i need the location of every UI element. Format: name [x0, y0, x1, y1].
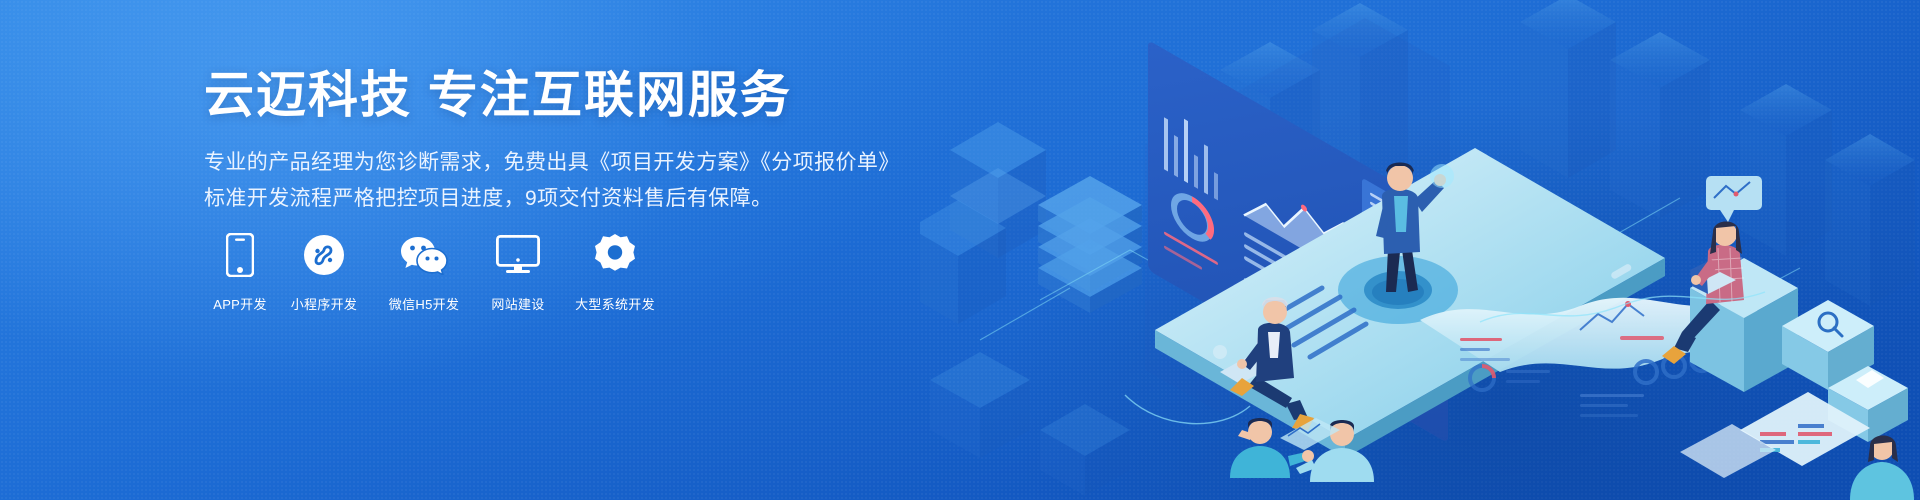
service-item-website[interactable]: 网站建设	[476, 232, 560, 313]
service-label-wechat-h5: 微信H5开发	[389, 294, 459, 313]
service-item-miniprogram[interactable]: 小程序开发	[276, 232, 372, 313]
service-item-wechat-h5[interactable]: 微信H5开发	[372, 232, 476, 313]
page-title: 云迈科技 专注互联网服务	[204, 66, 904, 124]
mini-program-icon	[303, 232, 345, 278]
hero-copy: 云迈科技 专注互联网服务 专业的产品经理为您诊断需求，免费出具《项目开发方案》《…	[204, 66, 904, 216]
service-label-large-system: 大型系统开发	[575, 294, 655, 313]
subtitle-line-1: 专业的产品经理为您诊断需求，免费出具《项目开发方案》《分项报价单》	[204, 146, 904, 180]
service-list: APP开发 小程序开发	[204, 232, 670, 313]
gear-icon	[594, 232, 636, 278]
monitor-icon	[496, 232, 540, 278]
mobile-phone-icon	[226, 232, 254, 278]
person-bottom-right	[1850, 436, 1914, 500]
isometric-illustration	[920, 0, 1920, 500]
service-label-miniprogram: 小程序开发	[291, 294, 358, 313]
service-item-app[interactable]: APP开发	[204, 232, 276, 313]
wechat-icon	[400, 232, 448, 278]
subtitle-line-2: 标准开发流程严格把控项目进度，9项交付资料售后有保障。	[204, 182, 904, 216]
hero-banner: 云迈科技 专注互联网服务 专业的产品经理为您诊断需求，免费出具《项目开发方案》《…	[0, 0, 1920, 500]
service-label-app: APP开发	[213, 294, 267, 313]
service-item-large-system[interactable]: 大型系统开发	[560, 232, 670, 313]
service-label-website: 网站建设	[491, 294, 544, 313]
